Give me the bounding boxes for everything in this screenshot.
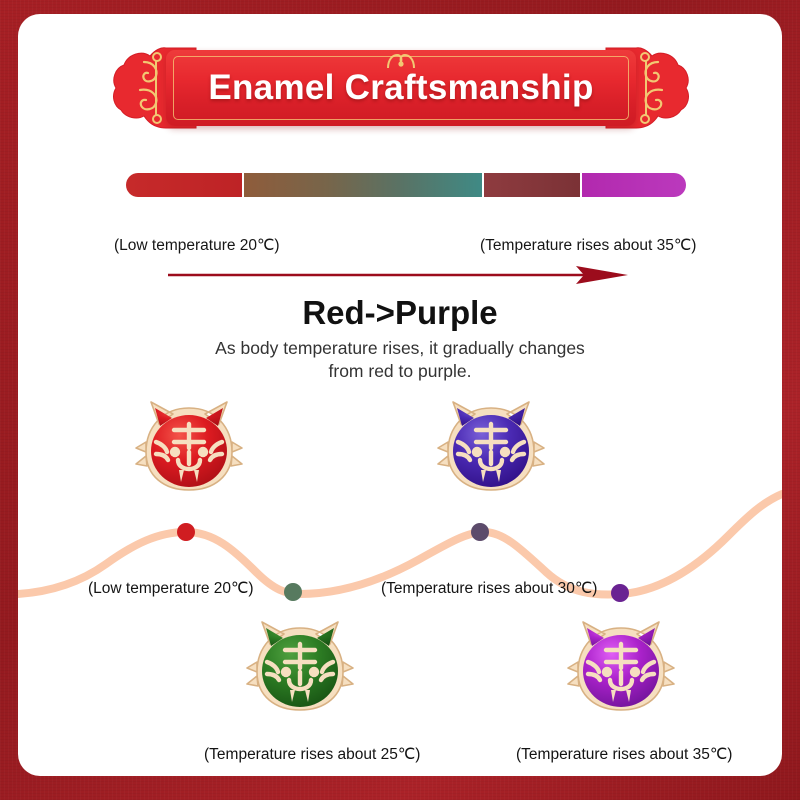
tiger-pin-purple[interactable]	[566, 610, 676, 720]
tiger-pin-red[interactable]	[134, 390, 244, 500]
dot-green	[284, 583, 302, 601]
caption-low-temperature: (Low temperature 20℃)	[88, 579, 254, 598]
tiger-pin-blue[interactable]	[436, 390, 546, 500]
tiger-pin-green[interactable]	[245, 610, 355, 720]
caption-30-degrees: (Temperature rises about 30℃)	[381, 579, 597, 598]
gradient-segment-maroon	[484, 173, 580, 197]
direction-arrow-icon	[168, 264, 628, 286]
caption-25-degrees: (Temperature rises about 25℃)	[204, 745, 420, 764]
temperature-gradient-bar	[126, 173, 686, 197]
content-card: Enamel Craftsmanship (Low temperature 20…	[18, 14, 782, 776]
banner-plate: Enamel Craftsmanship	[166, 50, 636, 126]
banner: Enamel Craftsmanship	[18, 40, 782, 136]
range-high-label: (Temperature rises about 35℃)	[480, 236, 696, 255]
dot-slate	[471, 523, 489, 541]
gradient-segment-red	[126, 173, 242, 197]
range-low-label: (Low temperature 20℃)	[114, 236, 280, 255]
heading-block: Red->Purple As body temperature rises, i…	[18, 294, 782, 384]
heading-subtitle: As body temperature rises, it gradually …	[18, 337, 782, 384]
range-label-row: (Low temperature 20℃) (Temperature rises…	[18, 236, 782, 258]
dot-purple	[611, 584, 629, 602]
gradient-segment-purple	[582, 173, 686, 197]
heading-title: Red->Purple	[18, 294, 782, 332]
page-root: Enamel Craftsmanship (Low temperature 20…	[0, 0, 800, 800]
gradient-segment-brown-teal	[244, 173, 482, 197]
caption-35-degrees: (Temperature rises about 35℃)	[516, 745, 732, 764]
temperature-wave-chart	[18, 488, 782, 618]
page-title: Enamel Craftsmanship	[166, 50, 636, 126]
dot-red	[177, 523, 195, 541]
